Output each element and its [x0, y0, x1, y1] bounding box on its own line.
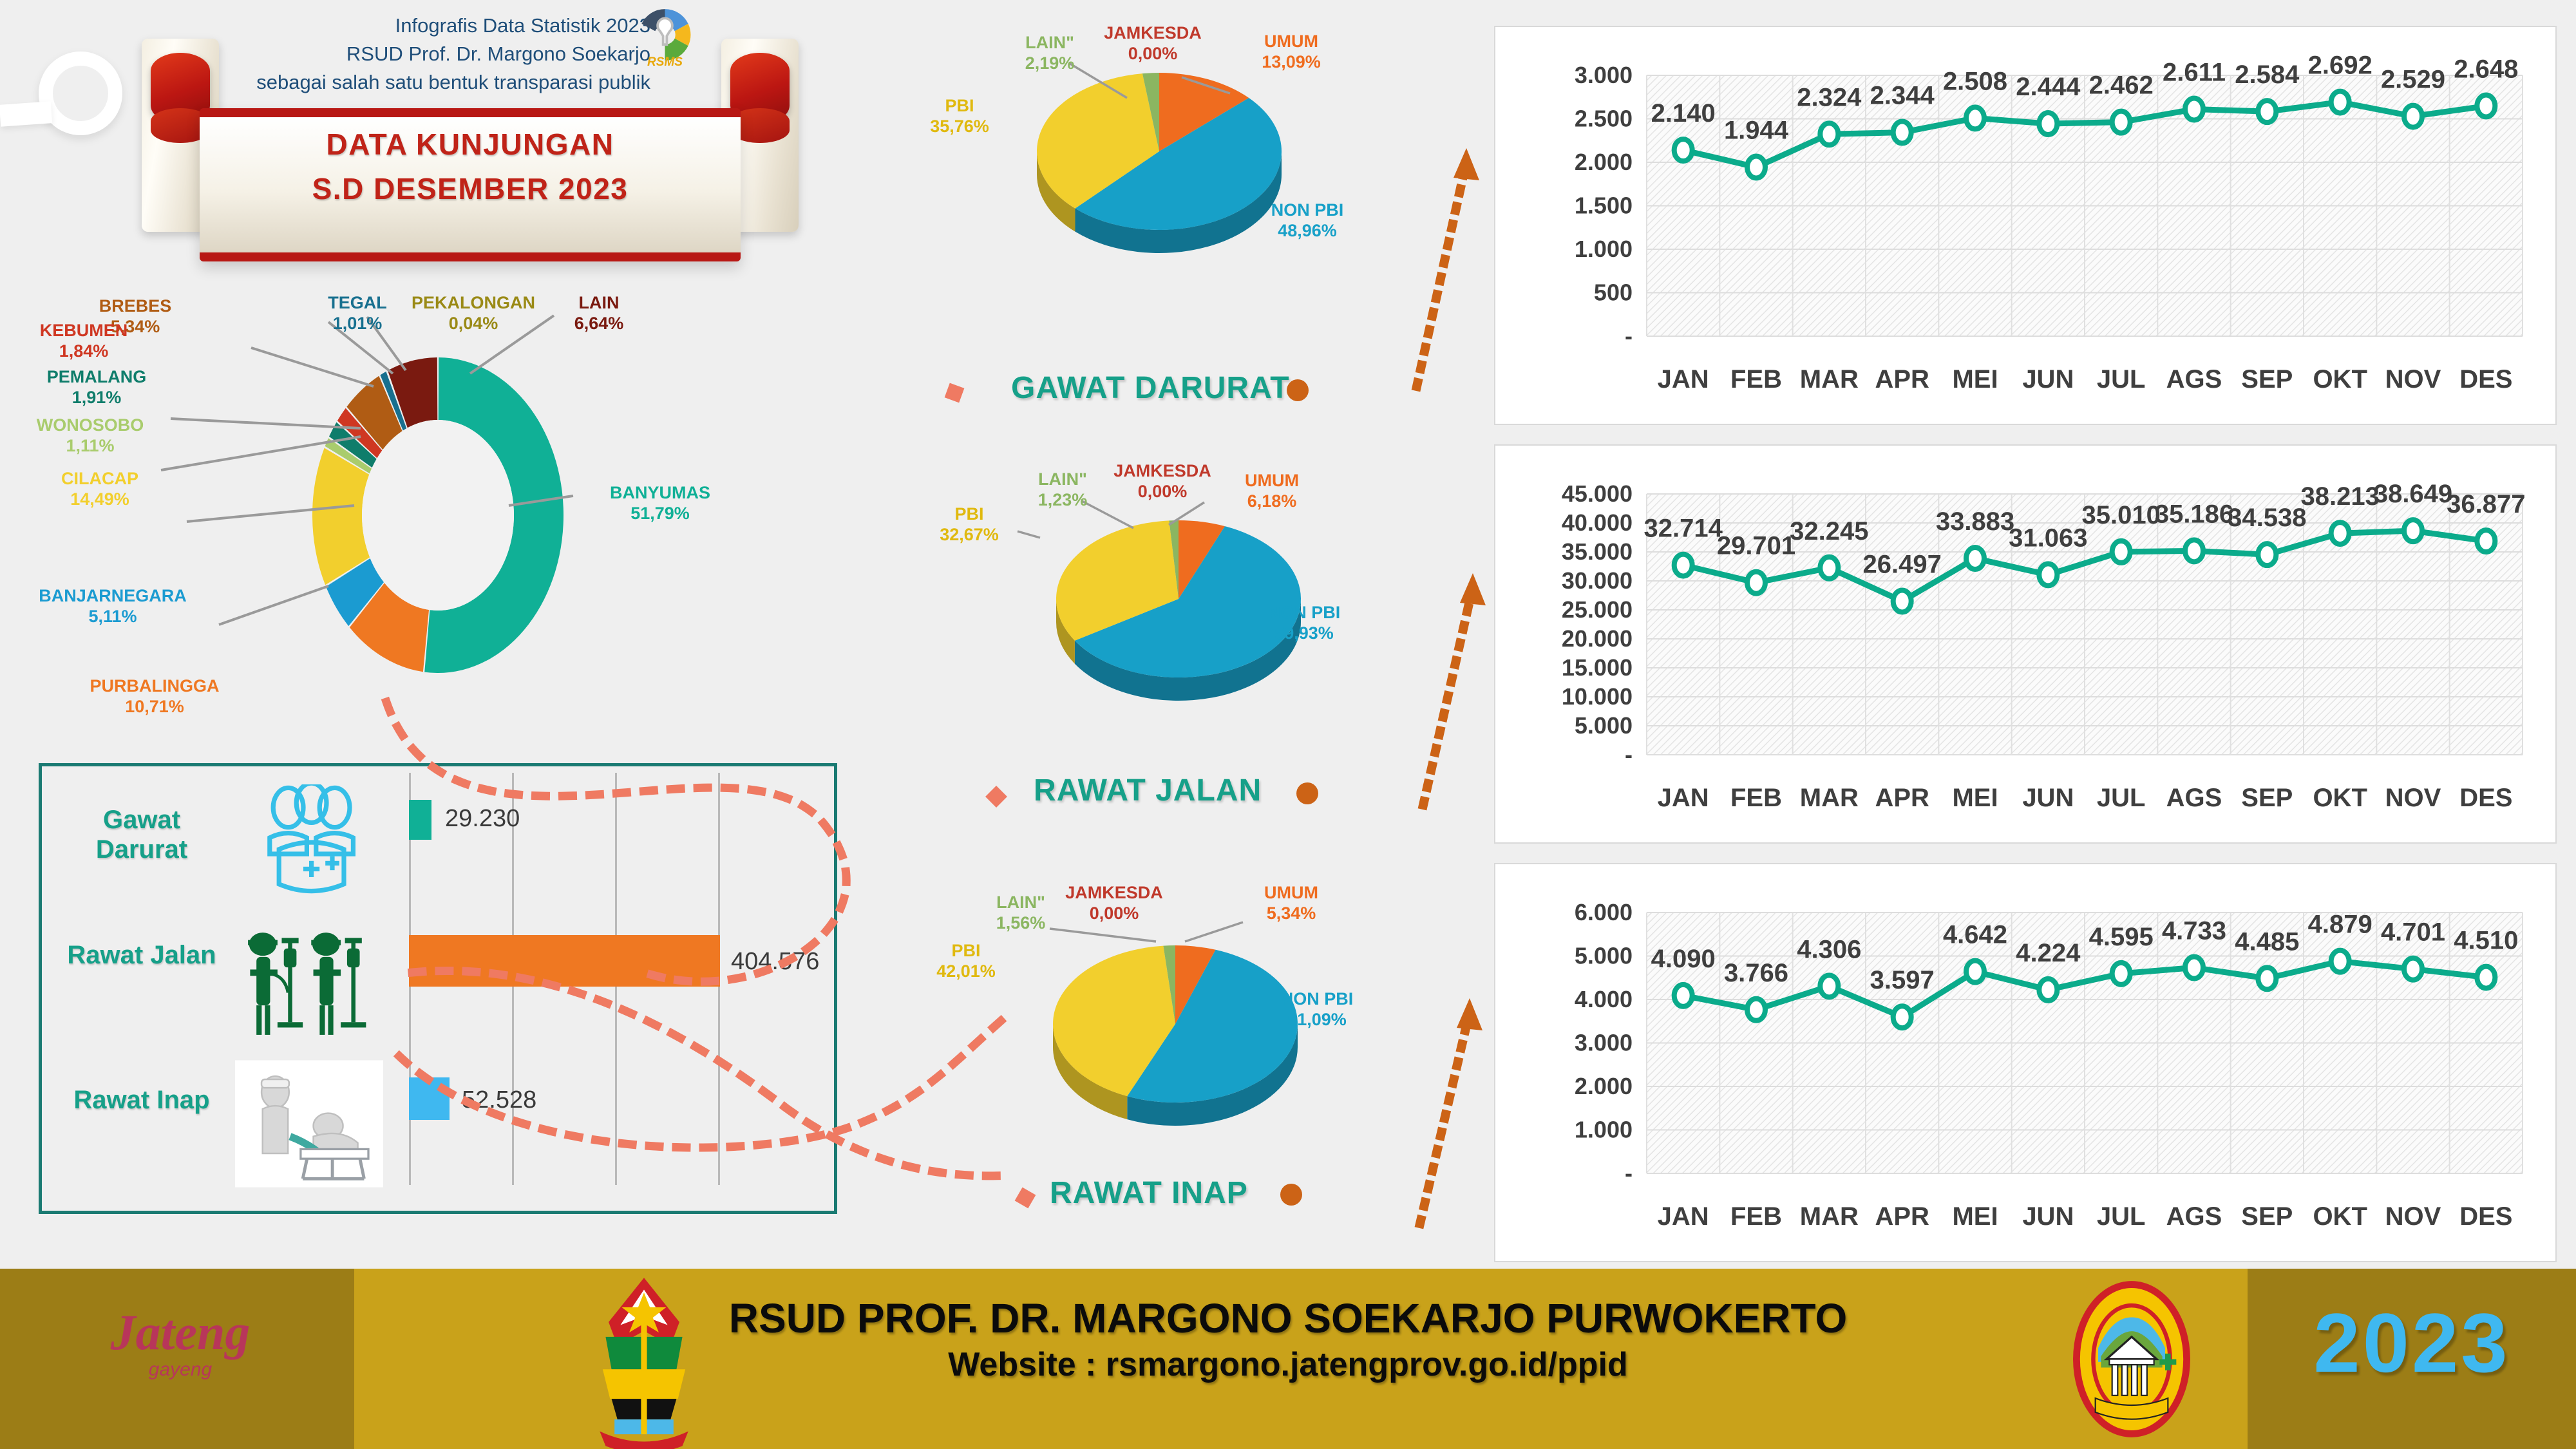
pie-label-pbi: PBI 32,67% [927, 504, 1011, 545]
jateng-brand-sub: gayeng [52, 1359, 309, 1381]
pie-label-non-pbi: NON PBI 48,96% [1249, 200, 1365, 241]
svg-text:4.879: 4.879 [2308, 911, 2372, 939]
donut-label-pemalang: PEMALANG 1,91% [32, 367, 161, 408]
svg-text:MAR: MAR [1800, 365, 1859, 393]
svg-text:-: - [1625, 1160, 1633, 1186]
svg-text:500: 500 [1594, 279, 1633, 306]
svg-text:JUN: JUN [2022, 365, 2074, 393]
footer-website[interactable]: Website : rsmargono.jatengprov.go.id/ppi… [708, 1343, 1868, 1387]
svg-text:FEB: FEB [1730, 784, 1782, 812]
svg-text:2.648: 2.648 [2454, 55, 2518, 84]
svg-text:38.649: 38.649 [2374, 480, 2452, 508]
svg-text:1.500: 1.500 [1575, 193, 1633, 219]
bar-row-gawat-darurat: Gawat Darurat 29.230 [42, 779, 834, 914]
svg-text:SEP: SEP [2241, 784, 2293, 812]
rsms-logo-label: RSMS [634, 55, 696, 70]
svg-text:JAN: JAN [1658, 365, 1709, 393]
pie-leader-lines [927, 26, 1481, 296]
svg-text:26.497: 26.497 [1862, 551, 1941, 579]
svg-text:34.538: 34.538 [2228, 504, 2306, 532]
magnifier-handle-icon [0, 101, 52, 126]
pie-label-lain: LAIN" 1,56% [982, 892, 1059, 934]
svg-text:3.000: 3.000 [1575, 1030, 1633, 1056]
banner-line-1: DATA KUNJUNGAN [200, 122, 741, 167]
svg-text:2.344: 2.344 [1870, 82, 1935, 110]
pie-label-umum: UMUM 13,09% [1236, 31, 1346, 73]
header-subtitle: Infografis Data Statistik 2023 RSUD Prof… [232, 12, 650, 97]
totals-bar-panel: Gawat Darurat 29.230 Rawat Jalan [39, 763, 837, 1214]
svg-text:40.000: 40.000 [1562, 509, 1633, 536]
svg-text:15.000: 15.000 [1562, 654, 1633, 681]
svg-text:JUL: JUL [2097, 365, 2146, 393]
section-rawat-jalan: LAIN" 1,23% JAMKESDA 0,00% UMUM 6,18% PB… [927, 464, 1481, 902]
svg-text:MEI: MEI [1952, 365, 1998, 393]
svg-text:33.883: 33.883 [1936, 507, 2014, 536]
svg-text:MEI: MEI [1952, 784, 1998, 812]
donut-label-wonosobo: WONOSOBO 1,11% [13, 415, 167, 457]
svg-text:38.213: 38.213 [2300, 482, 2379, 511]
svg-text:AGS: AGS [2166, 365, 2222, 393]
svg-text:JUL: JUL [2097, 1202, 2146, 1231]
svg-text:-: - [1625, 741, 1633, 768]
svg-text:AGS: AGS [2166, 1202, 2222, 1231]
line-chart-svg-1: -5.00010.00015.00020.00025.00030.00035.0… [1495, 446, 2558, 845]
svg-text:AGS: AGS [2166, 784, 2222, 812]
footer-hospital-name: RSUD PROF. DR. MARGONO SOEKARJO PURWOKER… [708, 1294, 1868, 1343]
svg-text:JAN: JAN [1658, 784, 1709, 812]
svg-text:OKT: OKT [2313, 365, 2367, 393]
svg-text:1.000: 1.000 [1575, 1117, 1633, 1143]
svg-text:4.224: 4.224 [2016, 939, 2081, 967]
section-marker-rawat-inap [927, 1153, 1481, 1230]
pie-label-umum: UMUM 6,18% [1217, 470, 1327, 512]
outpatient-iv-stand-icon [235, 927, 383, 1043]
svg-text:2.444: 2.444 [2016, 73, 2081, 101]
line-chart-panel-rawat-inap: -1.0002.0003.0004.0005.0006.0004.0903.76… [1494, 863, 2557, 1262]
bar-value-rawat-inap: 52.528 [462, 1086, 536, 1114]
svg-text:DES: DES [2459, 784, 2512, 812]
svg-text:JUN: JUN [2022, 1202, 2074, 1231]
bar-value-rawat-jalan: 404.576 [731, 948, 819, 976]
line-chart-svg-0: -5001.0001.5002.0002.5003.0002.1401.9442… [1495, 27, 2558, 426]
svg-text:36.877: 36.877 [2447, 490, 2525, 518]
svg-text:25.000: 25.000 [1562, 596, 1633, 623]
donut-label-lain: LAIN 6,64% [554, 293, 644, 334]
section-marker-rawat-jalan [927, 753, 1481, 831]
footer-year: 2023 [2267, 1294, 2557, 1391]
svg-text:MAR: MAR [1800, 1202, 1859, 1231]
svg-text:31.063: 31.063 [2009, 524, 2087, 552]
header-subtitle-line-2: RSUD Prof. Dr. Margono Soekarjo [232, 40, 650, 68]
svg-text:29.701: 29.701 [1717, 532, 1795, 560]
bar-value-gawat-darurat: 29.230 [445, 805, 520, 833]
svg-text:2.000: 2.000 [1575, 1073, 1633, 1099]
pie-label-jamkesda: JAMKESDA 0,00% [1050, 882, 1179, 924]
svg-text:6.000: 6.000 [1575, 899, 1633, 925]
pie-label-lain: LAIN" 1,23% [1024, 469, 1101, 511]
svg-text:2.508: 2.508 [1943, 67, 2007, 95]
svg-text:45.000: 45.000 [1562, 480, 1633, 507]
svg-text:4.485: 4.485 [2235, 927, 2299, 956]
bar-rawat-inap [409, 1077, 450, 1120]
pie-label-non-pbi: NON PBI 59,93% [1262, 602, 1346, 644]
svg-text:35.186: 35.186 [2155, 500, 2233, 528]
section-gawat-darurat: LAIN" 2,19% JAMKESDA 0,00% UMUM 13,09% P… [927, 26, 1481, 464]
bar-label-gawat-darurat: Gawat Darurat [61, 805, 222, 864]
svg-text:2.462: 2.462 [2089, 71, 2154, 100]
footer-text: RSUD PROF. DR. MARGONO SOEKARJO PURWOKER… [708, 1294, 1868, 1387]
pie-label-jamkesda: JAMKESDA 0,00% [1088, 23, 1217, 64]
svg-text:NOV: NOV [2385, 365, 2441, 393]
section-rawat-inap: LAIN" 1,56% JAMKESDA 0,00% UMUM 5,34% PB… [927, 882, 1481, 1320]
svg-text:FEB: FEB [1730, 1202, 1782, 1231]
svg-text:30.000: 30.000 [1562, 567, 1633, 594]
bar-gawat-darurat [409, 800, 431, 840]
svg-text:1.944: 1.944 [1724, 117, 1789, 145]
svg-text:4.595: 4.595 [2089, 923, 2154, 951]
svg-text:3.766: 3.766 [1724, 959, 1788, 987]
origin-donut-chart: BREBES 5,34% KEBUMEN 1,84% PEMALANG 1,91… [58, 283, 818, 747]
inpatient-bed-icon [235, 1059, 383, 1188]
bar-row-rawat-inap: Rawat Inap 52.528 [42, 1059, 834, 1195]
pie-label-non-pbi: NON PBI 51,09% [1275, 989, 1359, 1030]
svg-text:DES: DES [2459, 1202, 2512, 1231]
svg-text:3.000: 3.000 [1575, 62, 1633, 88]
svg-text:DES: DES [2459, 365, 2512, 393]
svg-text:2.324: 2.324 [1797, 83, 1862, 111]
line-chart-svg-2: -1.0002.0003.0004.0005.0006.0004.0903.76… [1495, 864, 2558, 1264]
header-subtitle-line-1: Infografis Data Statistik 2023 [232, 12, 650, 40]
svg-text:2.140: 2.140 [1651, 99, 1716, 128]
header-subtitle-line-3: sebagai salah satu bentuk transparasi pu… [232, 68, 650, 97]
donut-label-purbalingga: PURBALINGGA 10,71% [71, 676, 238, 717]
svg-text:4.701: 4.701 [2381, 918, 2445, 947]
bar-label-rawat-inap: Rawat Inap [61, 1085, 222, 1115]
donut-label-cilacap: CILACAP 14,49% [32, 469, 167, 510]
donut-label-banjarnegara: BANJARNEGARA 5,11% [19, 586, 206, 627]
header: DATA KUNJUNGAN S.D DESEMBER 2023 Infogra… [0, 0, 850, 296]
pie-label-pbi: PBI 35,76% [914, 95, 1005, 137]
donut-label-tegal: TEGAL 1,01% [316, 293, 399, 334]
svg-text:2.500: 2.500 [1575, 106, 1633, 132]
svg-text:MEI: MEI [1952, 1202, 1998, 1231]
bar-label-rawat-jalan: Rawat Jalan [61, 940, 222, 970]
jateng-gayeng-logo: Jateng gayeng [52, 1307, 309, 1381]
svg-text:JUN: JUN [2022, 784, 2074, 812]
svg-text:5.000: 5.000 [1575, 712, 1633, 739]
svg-text:20.000: 20.000 [1562, 625, 1633, 652]
svg-text:32.714: 32.714 [1643, 515, 1723, 543]
svg-text:FEB: FEB [1730, 365, 1782, 393]
svg-text:-: - [1625, 323, 1633, 349]
section-marker-gawat-darurat [927, 348, 1481, 425]
svg-text:2.584: 2.584 [2235, 61, 2300, 89]
jateng-brand-main: Jateng [52, 1307, 309, 1358]
bar-row-rawat-jalan: Rawat Jalan 404.576 [42, 921, 834, 1056]
svg-text:OKT: OKT [2313, 1202, 2367, 1231]
banner-line-2: S.D DESEMBER 2023 [200, 167, 741, 211]
pie-label-umum: UMUM 5,34% [1236, 882, 1346, 924]
svg-text:APR: APR [1875, 1202, 1929, 1231]
svg-text:4.642: 4.642 [1943, 921, 2007, 949]
pie-label-pbi: PBI 42,01% [921, 940, 1011, 982]
svg-text:APR: APR [1875, 365, 1929, 393]
svg-text:APR: APR [1875, 784, 1929, 812]
svg-text:4.090: 4.090 [1651, 945, 1716, 973]
donut-label-kebumen: KEBUMEN 1,84% [19, 321, 148, 362]
svg-text:1.000: 1.000 [1575, 236, 1633, 262]
svg-text:2.692: 2.692 [2308, 52, 2372, 80]
svg-text:JUL: JUL [2097, 784, 2146, 812]
svg-text:2.000: 2.000 [1575, 149, 1633, 175]
svg-text:4.000: 4.000 [1575, 986, 1633, 1012]
svg-text:35.010: 35.010 [2081, 501, 2160, 529]
svg-text:SEP: SEP [2241, 1202, 2293, 1231]
svg-text:JAN: JAN [1658, 1202, 1709, 1231]
svg-text:NOV: NOV [2385, 784, 2441, 812]
svg-text:4.510: 4.510 [2454, 927, 2518, 955]
line-chart-panel-gawat-darurat: -5001.0001.5002.0002.5003.0002.1401.9442… [1494, 26, 2557, 425]
donut-label-banyumas: BANYUMAS 51,79% [580, 483, 741, 524]
svg-text:4.733: 4.733 [2162, 917, 2226, 945]
bar-rawat-jalan [409, 935, 720, 987]
donut-label-pekalongan: PEKALONGAN 0,04% [399, 293, 547, 334]
line-chart-panel-rawat-jalan: -5.00010.00015.00020.00025.00030.00035.0… [1494, 444, 2557, 844]
svg-text:2.529: 2.529 [2381, 66, 2445, 94]
page-title: DATA KUNJUNGAN S.D DESEMBER 2023 [200, 122, 741, 211]
jawa-tengah-emblem-icon [554, 1272, 734, 1449]
emergency-patients-icon [235, 784, 383, 900]
svg-text:OKT: OKT [2313, 784, 2367, 812]
svg-text:4.306: 4.306 [1797, 935, 1861, 963]
svg-text:5.000: 5.000 [1575, 943, 1633, 969]
svg-text:10.000: 10.000 [1562, 683, 1633, 710]
svg-text:2.611: 2.611 [2163, 59, 2226, 87]
pie-label-lain: LAIN" 2,19% [1011, 32, 1088, 74]
svg-text:MAR: MAR [1800, 784, 1859, 812]
svg-text:35.000: 35.000 [1562, 538, 1633, 565]
pie-label-jamkesda: JAMKESDA 0,00% [1098, 460, 1227, 502]
svg-text:SEP: SEP [2241, 365, 2293, 393]
svg-text:NOV: NOV [2385, 1202, 2441, 1231]
rsms-hospital-seal-icon [2048, 1274, 2215, 1444]
svg-text:3.597: 3.597 [1870, 966, 1935, 994]
svg-text:32.245: 32.245 [1790, 517, 1868, 545]
